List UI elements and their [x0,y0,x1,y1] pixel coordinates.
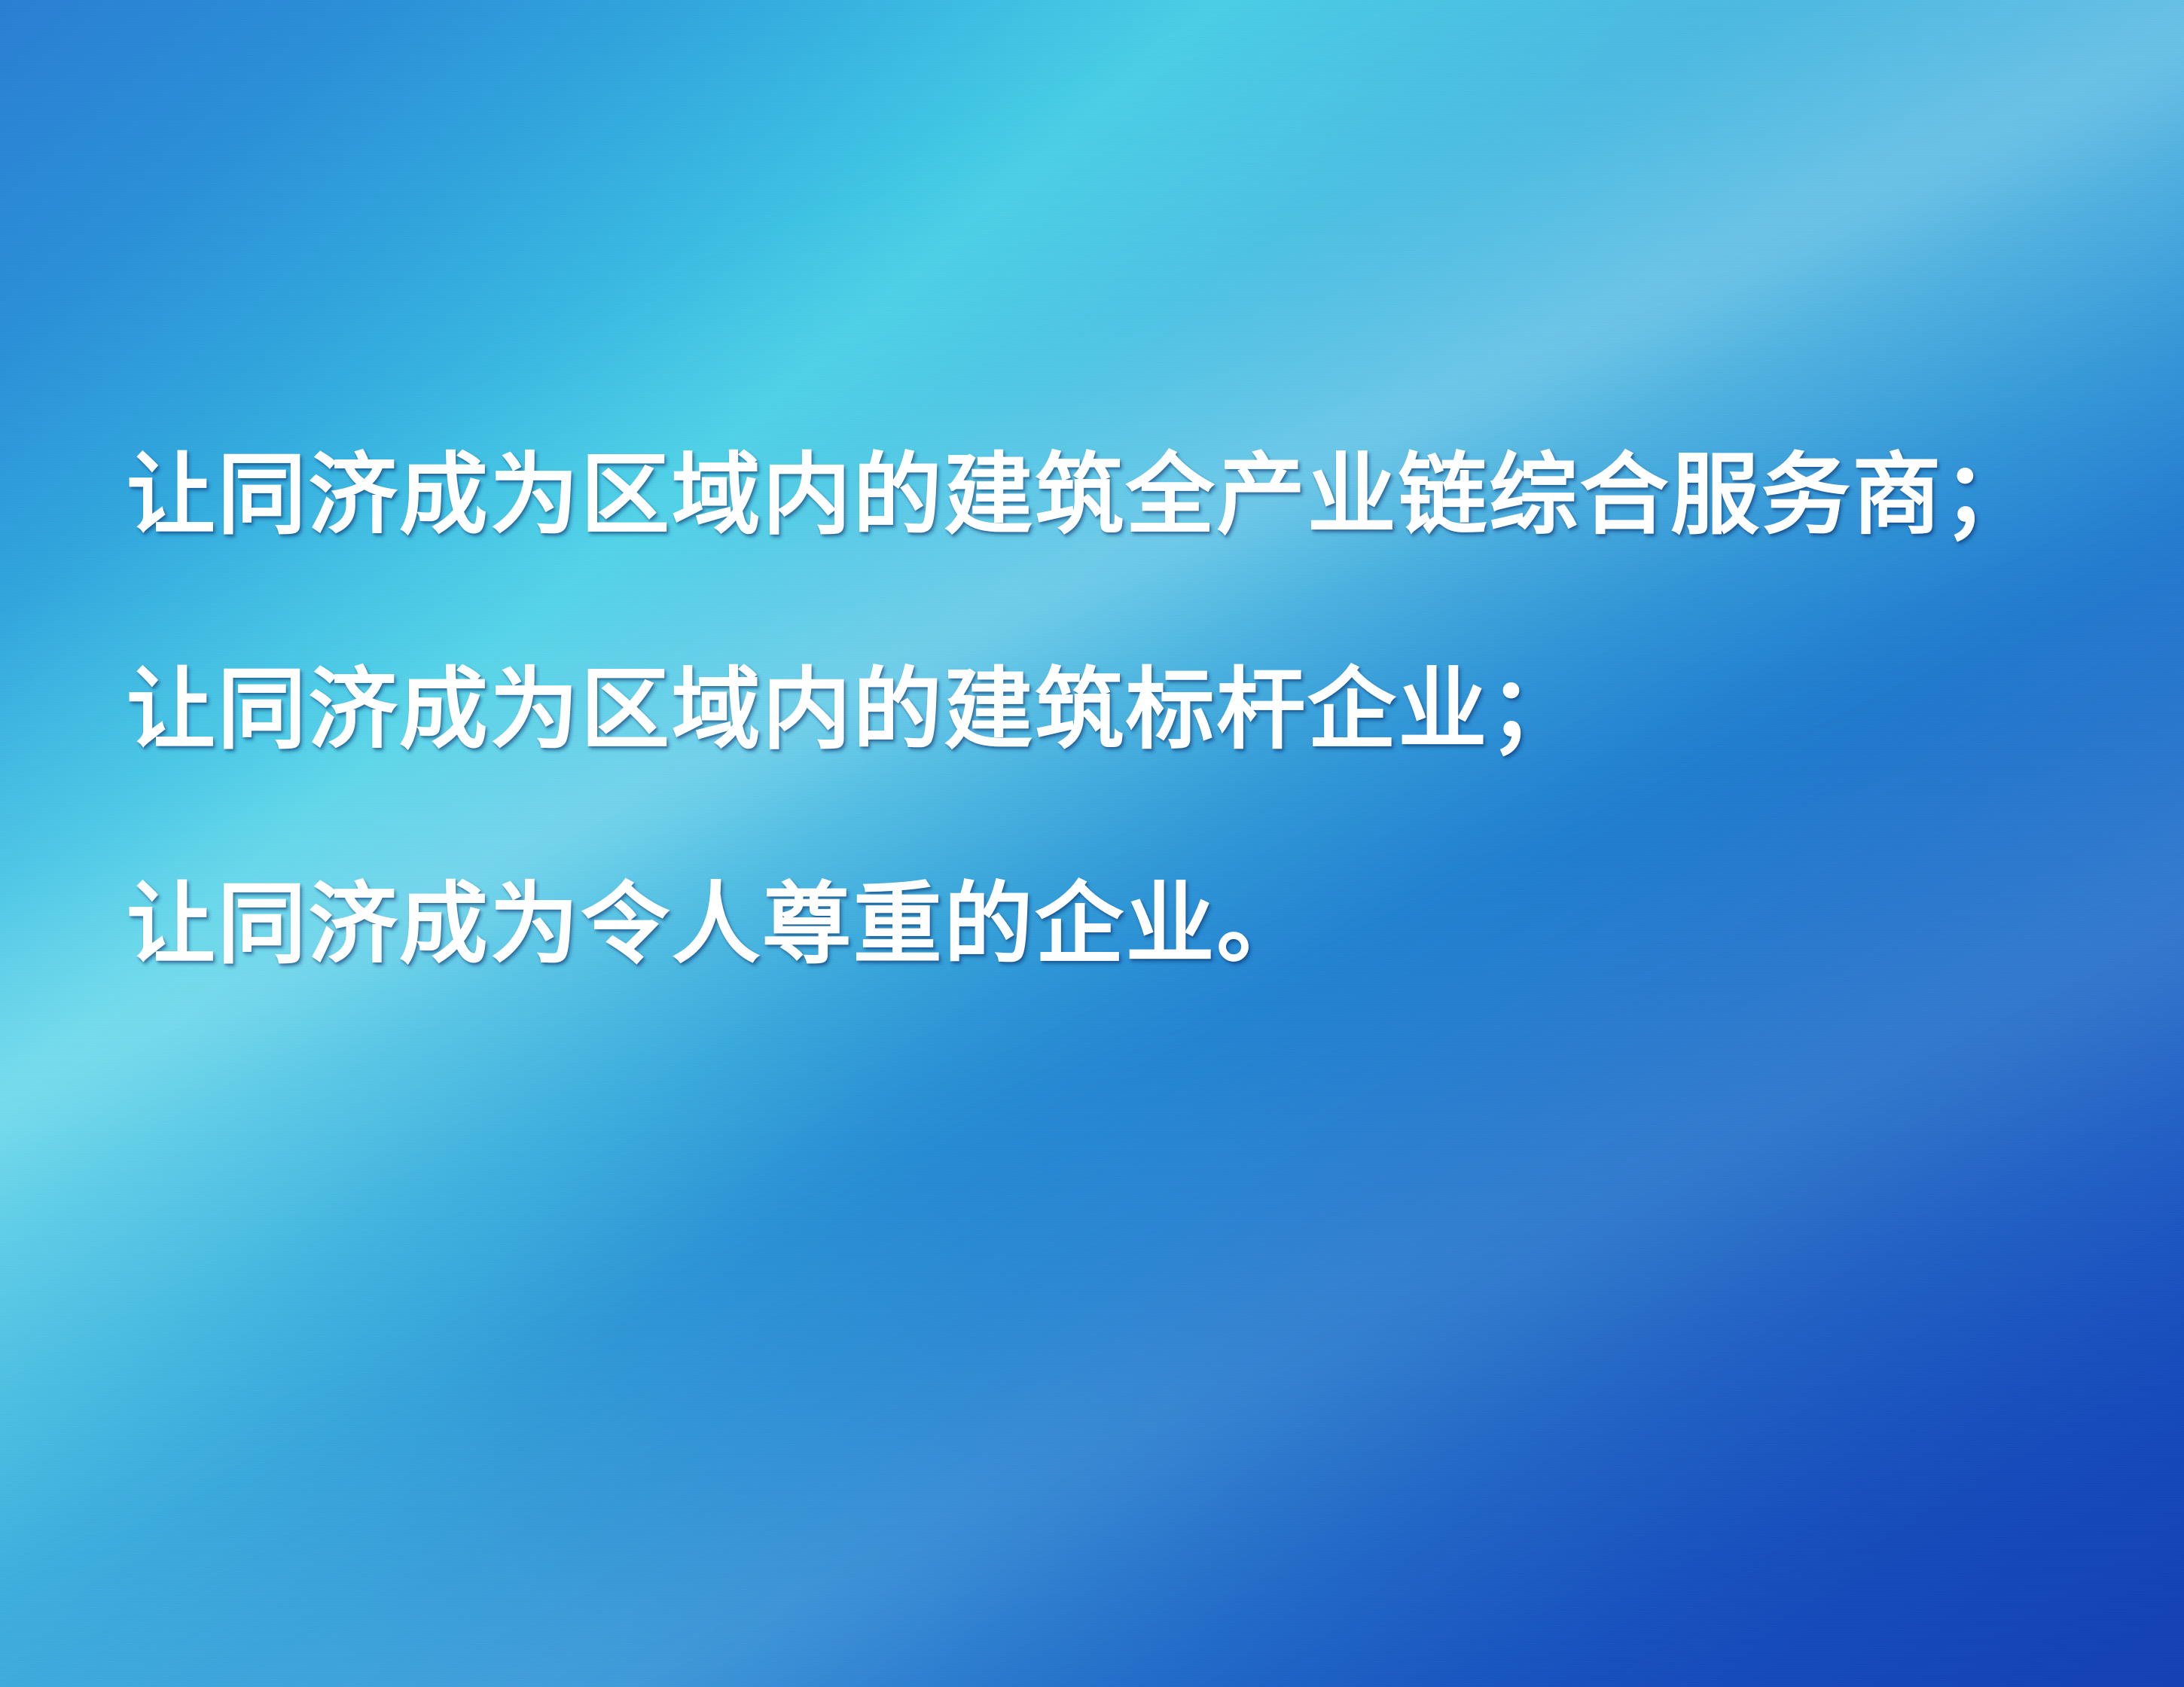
slide-text-block: 让同济成为区域内的建筑全产业链综合服务商； 让同济成为区域内的建筑标杆企业； 让… [127,452,2115,970]
slide-line-2: 让同济成为区域内的建筑标杆企业； [127,667,2115,755]
slide-line-3: 让同济成为令人尊重的企业。 [127,881,2115,970]
presentation-slide: 让同济成为区域内的建筑全产业链综合服务商； 让同济成为区域内的建筑标杆企业； 让… [0,0,2184,1687]
slide-line-1: 让同济成为区域内的建筑全产业链综合服务商； [127,452,2115,541]
